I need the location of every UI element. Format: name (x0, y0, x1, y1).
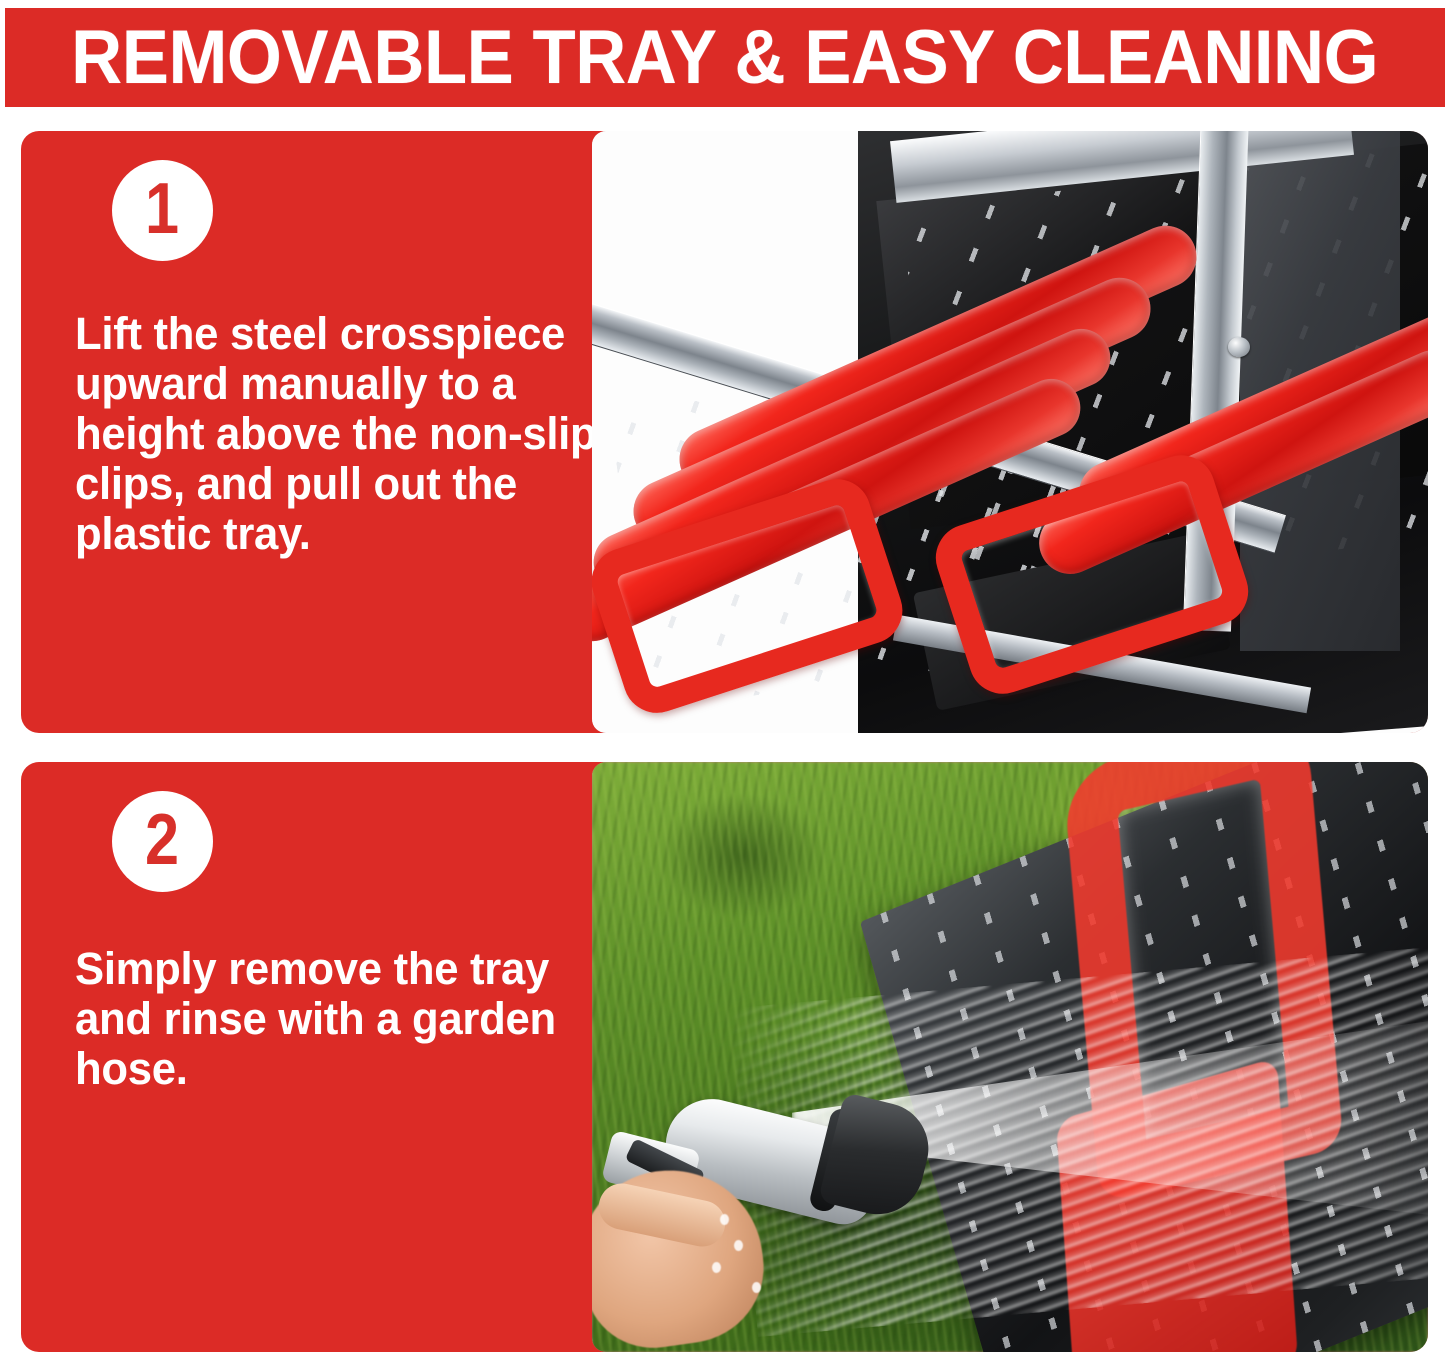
water-drop-1 (720, 1214, 729, 1225)
water-drop-2 (734, 1240, 743, 1251)
step-1-number-badge: 1 (112, 160, 213, 261)
step-1-description: Lift the steel crosspiece upward manuall… (75, 309, 618, 559)
step-2-number-badge: 2 (112, 791, 213, 892)
step-1-photo (592, 131, 1428, 733)
water-drop-4 (752, 1282, 761, 1293)
step-2-photo (592, 762, 1428, 1352)
step-2-description: Simply remove the tray and rinse with a … (75, 944, 618, 1094)
step-2-text-panel: 2 Simply remove the tray and rinse with … (48, 762, 593, 1352)
step-card-1: 1 Lift the steel crosspiece upward manua… (21, 131, 1428, 733)
step-1-text-panel: 1 Lift the steel crosspiece upward manua… (48, 131, 593, 733)
water-drop-3 (712, 1262, 721, 1273)
step-1-number: 1 (145, 173, 179, 245)
page-title: REMOVABLE TRAY & EASY CLEANING (72, 20, 1379, 96)
step-card-2: 2 Simply remove the tray and rinse with … (21, 762, 1428, 1352)
bolt-icon (1228, 337, 1250, 357)
header-banner: REMOVABLE TRAY & EASY CLEANING (5, 8, 1445, 107)
infographic-page: REMOVABLE TRAY & EASY CLEANING 1 Lift th… (0, 0, 1445, 1359)
step-2-number: 2 (145, 804, 179, 876)
